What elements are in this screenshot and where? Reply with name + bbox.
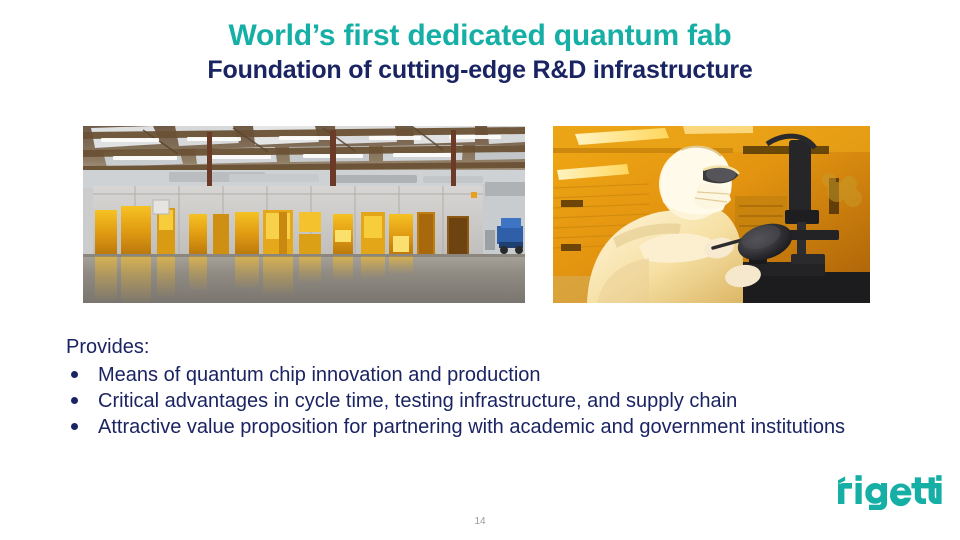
benefits-list: Means of quantum chip innovation and pro… — [66, 362, 876, 440]
list-item-label: Attractive value proposition for partner… — [98, 416, 845, 438]
list-item-label: Critical advantages in cycle time, testi… — [98, 390, 737, 412]
rigetti-wordmark-icon — [836, 474, 942, 510]
fab-cleanroom-exterior-graphic — [83, 126, 525, 303]
bullet-dot-icon — [71, 397, 78, 404]
page-number: 14 — [0, 516, 960, 527]
list-item: Critical advantages in cycle time, testi… — [66, 388, 876, 414]
rigetti-logo — [836, 474, 942, 510]
provides-label: Provides: — [66, 334, 876, 360]
bullet-dot-icon — [71, 423, 78, 430]
title-block: World’s first dedicated quantum fab Foun… — [0, 20, 960, 84]
cleanroom-technician-wafer-photo — [553, 126, 870, 303]
bullet-dot-icon — [71, 371, 78, 378]
fab-cleanroom-exterior-photo — [83, 126, 525, 303]
list-item: Means of quantum chip innovation and pro… — [66, 362, 876, 388]
page-title: World’s first dedicated quantum fab — [0, 20, 960, 52]
list-item-label: Means of quantum chip innovation and pro… — [98, 364, 541, 386]
cleanroom-technician-wafer-graphic — [553, 126, 870, 303]
list-item: Attractive value proposition for partner… — [66, 414, 876, 440]
slide-root: World’s first dedicated quantum fab Foun… — [0, 0, 960, 540]
body-content: Provides: Means of quantum chip innovati… — [66, 334, 876, 440]
page-subtitle: Foundation of cutting-edge R&D infrastru… — [0, 56, 960, 84]
